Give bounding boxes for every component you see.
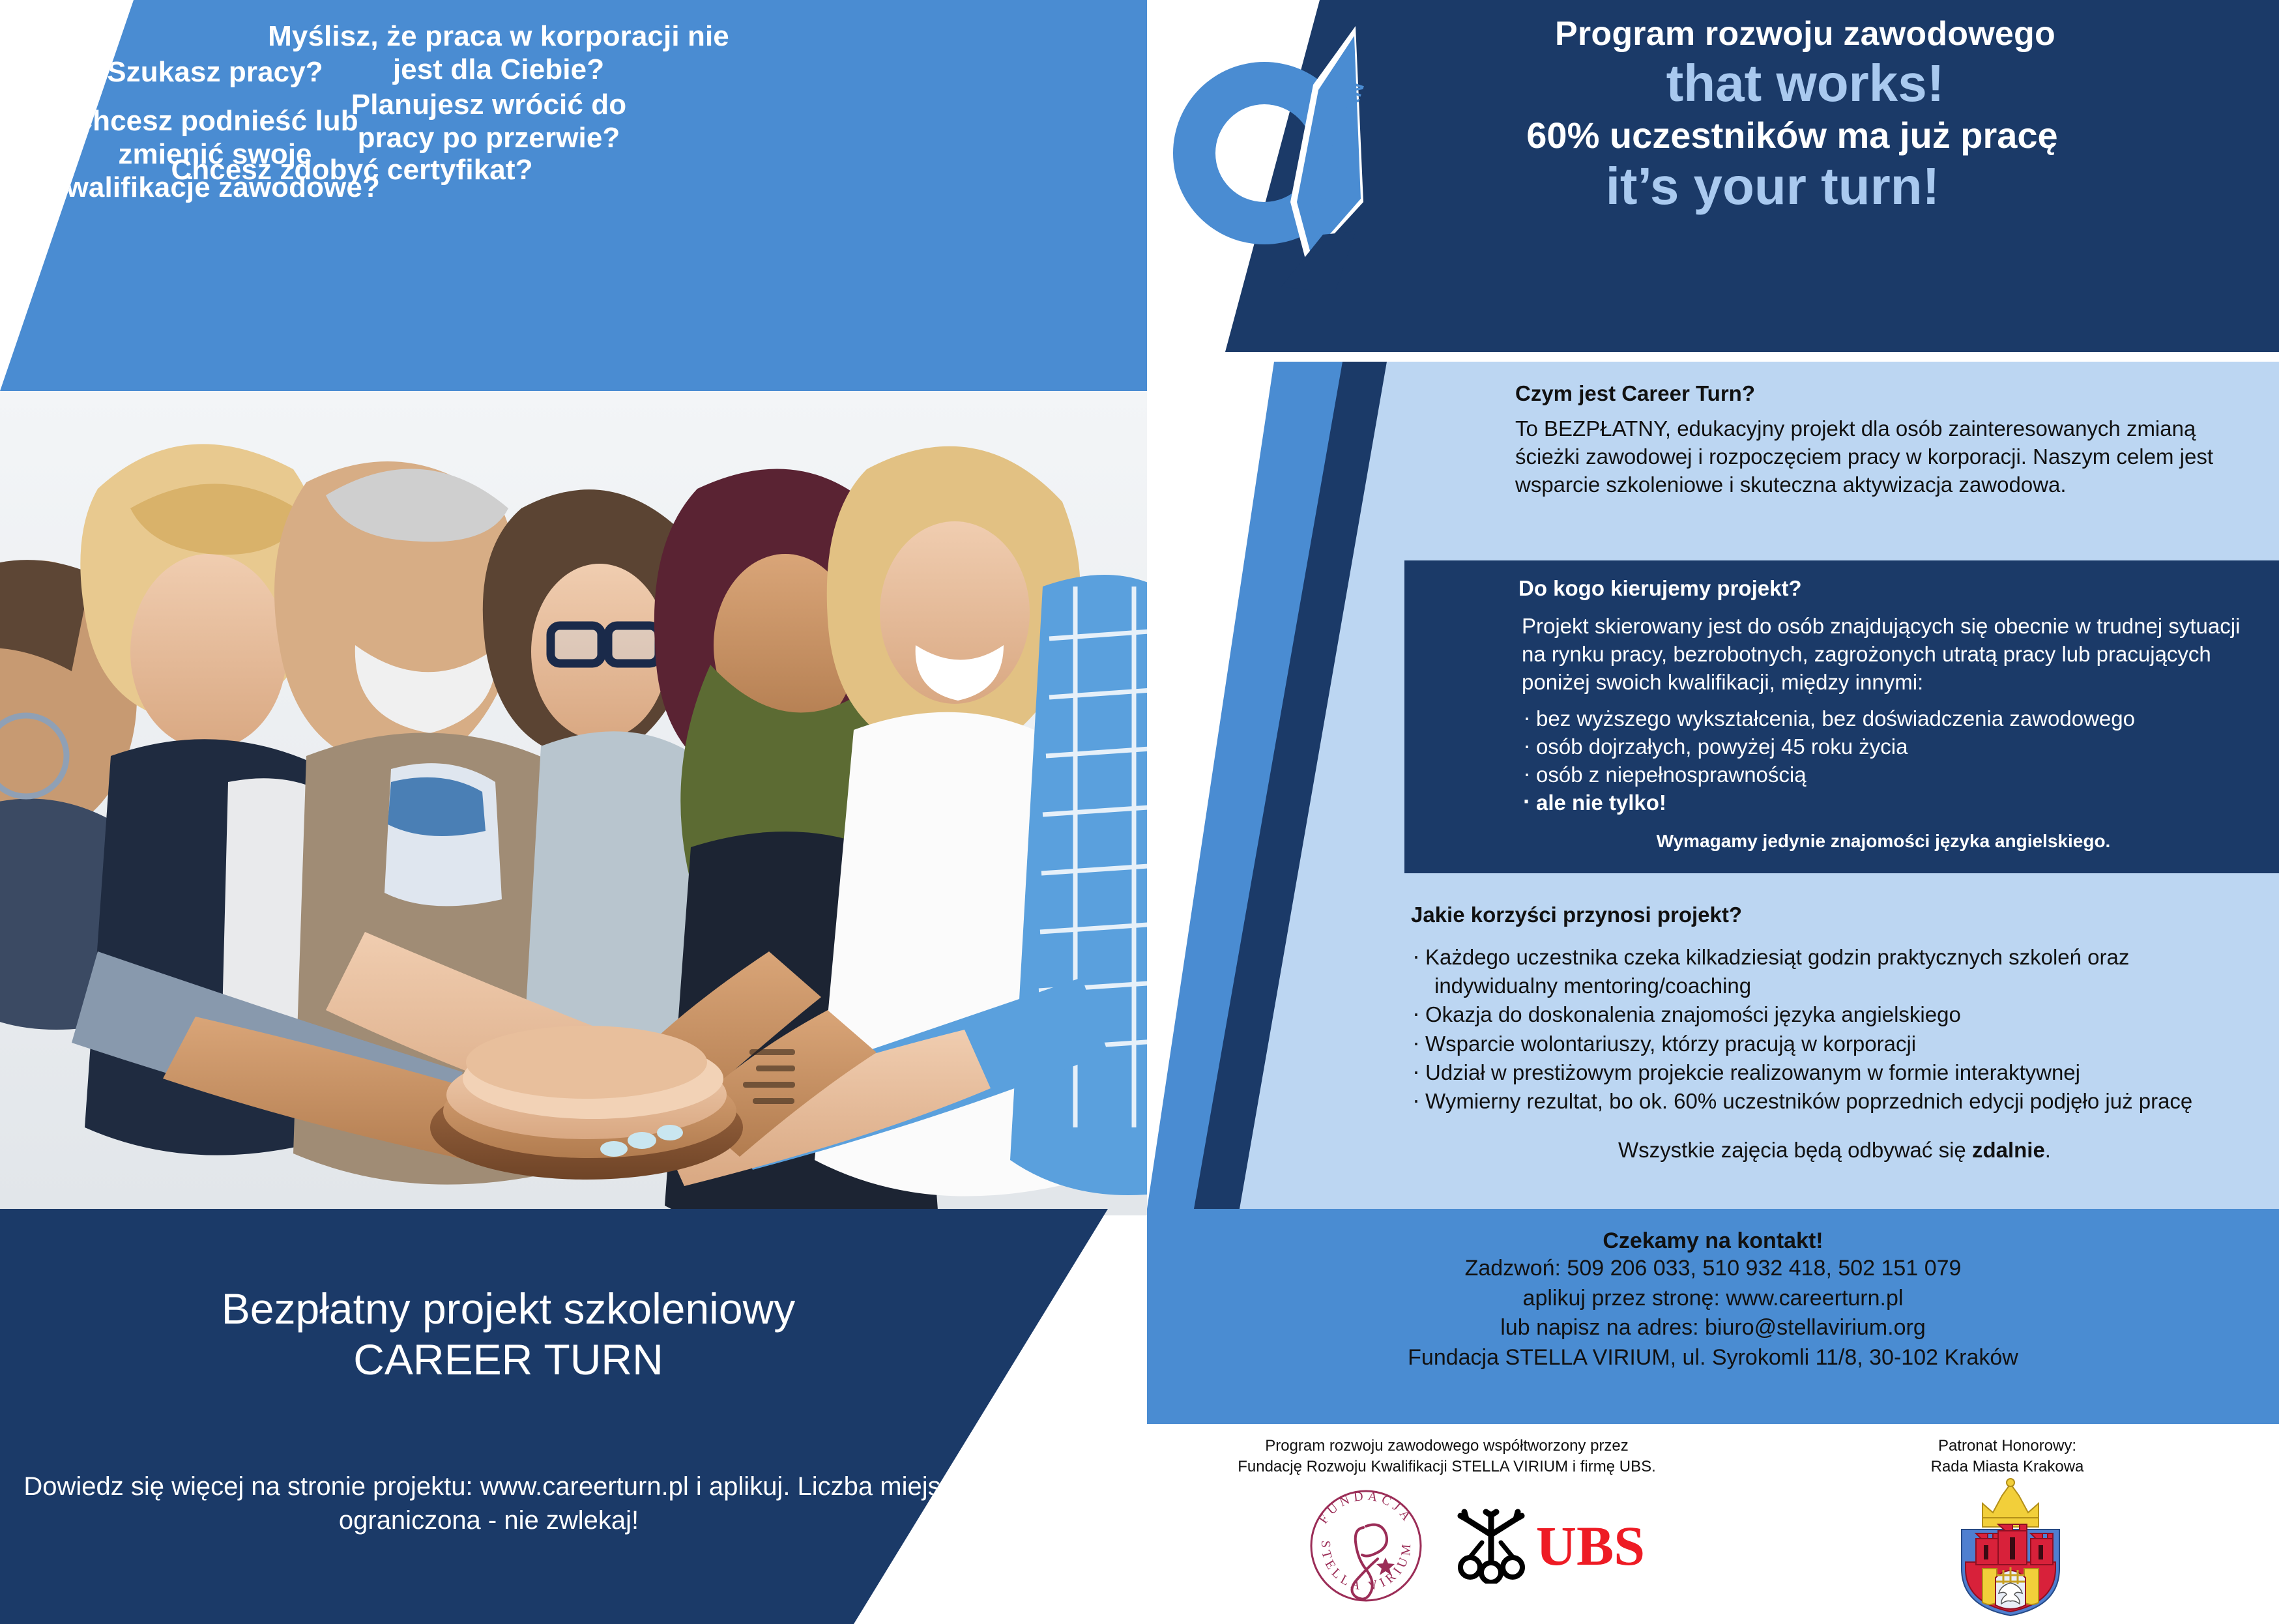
contact-phones[interactable]: Zadzwoń: 509 206 033, 510 932 418, 502 1… <box>1147 1254 2279 1284</box>
project-title-line1: Bezpłatny projekt szkoleniowy <box>0 1284 1017 1335</box>
patron-line-1: Patronat Honorowy: <box>1799 1436 2216 1457</box>
partner-logos: FUNDACJA STELLA VIRIUM <box>1245 1477 1701 1614</box>
target-list: bez wyższego wykształcenia, bez doświadc… <box>1522 705 2252 817</box>
target-item: osób z niepełnosprawnością <box>1522 761 2252 789</box>
project-subtitle: Dowiedz się więcej na stronie projektu: … <box>0 1470 978 1537</box>
project-title-line2: CAREER TURN <box>0 1335 1017 1385</box>
right-column: Program rozwoju zawodowego that works! 6… <box>1147 0 2279 1624</box>
benefits-note-bold: zdalnie <box>1972 1138 2045 1162</box>
patron-line-2: Rada Miasta Krakowa <box>1799 1457 2216 1477</box>
seal-top-text: FUNDACJA <box>1316 1488 1415 1526</box>
hero-line-3: 60% uczestników ma już pracę <box>1329 114 2255 156</box>
questions-band: Szukasz pracy? Myślisz, że praca w korpo… <box>0 0 1147 391</box>
poster: Szukasz pracy? Myślisz, że praca w korpo… <box>0 0 2279 1624</box>
benefit-main: Każdego uczestnika czeka kilkadziesiąt g… <box>1425 945 2129 969</box>
benefit-item: Udział w prestiżowym projekcie realizowa… <box>1411 1058 2258 1087</box>
benefits-heading: Jakie korzyści przynosi projekt? <box>1411 903 2258 927</box>
target-item: ale nie tylko! <box>1522 789 2252 817</box>
about-section: Czym jest Career Turn? To BEZPŁATNY, edu… <box>1515 381 2252 499</box>
krakow-coat-of-arms <box>1942 1477 2079 1617</box>
benefits-note-suffix: . <box>2045 1138 2051 1162</box>
target-intro: Projekt skierowany jest do osób znajdują… <box>1522 613 2245 697</box>
partners-text: Program rozwoju zawodowego współtworzony… <box>1186 1436 1707 1477</box>
question-4: Planujesz wrócić do pracy po przerwie? <box>332 88 645 154</box>
benefits-note: Wszystkie zajęcia będą odbywać się zdaln… <box>1411 1138 2258 1163</box>
question-2: Myślisz, że praca w korporacji nie jest … <box>261 20 736 86</box>
target-section: Do kogo kierujemy projekt? Projekt skier… <box>1404 560 2279 873</box>
team-hands-photo <box>0 391 1147 1215</box>
left-column: Szukasz pracy? Myślisz, że praca w korpo… <box>0 0 1147 1624</box>
hero-line-2: that works! <box>1343 53 2268 113</box>
benefits-note-prefix: Wszystkie zajęcia będą odbywać się <box>1618 1138 1972 1162</box>
benefit-item: Wsparcie wolontariuszy, którzy pracują w… <box>1411 1030 2258 1058</box>
partners-line-2: Fundację Rozwoju Kwalifikacji STELLA VIR… <box>1186 1457 1707 1477</box>
benefit-item: Każdego uczestnika czeka kilkadziesiąt g… <box>1411 943 2258 1000</box>
project-title: Bezpłatny projekt szkoleniowy CAREER TUR… <box>0 1284 1017 1385</box>
ubs-logo: UBS <box>1457 1509 1645 1584</box>
target-heading: Do kogo kierujemy projekt? <box>1518 576 1802 601</box>
careerturn-ring-arrow-logo: CAREERTURN <box>1160 7 1369 332</box>
target-panel: Do kogo kierujemy projekt? Projekt skier… <box>1404 560 2279 873</box>
hero-line-4: it’s your turn! <box>1310 156 2235 216</box>
ubs-wordmark: UBS <box>1536 1518 1645 1574</box>
about-body: To BEZPŁATNY, edukacyjny projekt dla osó… <box>1515 415 2252 499</box>
target-item: bez wyższego wykształcenia, bez doświadc… <box>1522 705 2252 733</box>
benefit-item: Okazja do doskonalenia znajomości języka… <box>1411 1000 2258 1029</box>
question-5: Chcesz zdobyć certyfikat? <box>150 153 554 186</box>
benefits-section: Jakie korzyści przynosi projekt? Każdego… <box>1411 903 2258 1163</box>
contact-website[interactable]: aplikuj przez stronę: www.careerturn.pl <box>1147 1284 2279 1314</box>
patron-text: Patronat Honorowy: Rada Miasta Krakowa <box>1799 1436 2216 1477</box>
seal-bottom-text: STELLA VIRIUM <box>1318 1540 1414 1593</box>
left-footer-block: Bezpłatny projekt szkoleniowy CAREER TUR… <box>0 1209 1147 1624</box>
target-note: Wymagamy jedynie znajomości języka angie… <box>1522 831 2245 852</box>
contact-heading: Czekamy na kontakt! <box>1147 1228 2279 1254</box>
footer-panel: Program rozwoju zawodowego współtworzony… <box>1147 1424 2279 1624</box>
benefit-item: Wymierny rezultat, bo ok. 60% uczestnikó… <box>1411 1087 2258 1116</box>
benefits-list: Każdego uczestnika czeka kilkadziesiąt g… <box>1411 943 2258 1116</box>
contact-address: Fundacja STELLA VIRIUM, ul. Syrokomli 11… <box>1147 1343 2279 1373</box>
stella-virium-seal-logo: FUNDACJA STELLA VIRIUM <box>1301 1481 1431 1611</box>
hero-line-1: Program rozwoju zawodowego <box>1343 14 2268 53</box>
contact-panel: Czekamy na kontakt! Zadzwoń: 509 206 033… <box>1147 1209 2279 1424</box>
partners-line-1: Program rozwoju zawodowego współtworzony… <box>1186 1436 1707 1457</box>
about-heading: Czym jest Career Turn? <box>1515 381 2252 406</box>
target-item: osób dojrzałych, powyżej 45 roku życia <box>1522 733 2252 761</box>
benefit-continuation: indywidualny mentoring/coaching <box>1425 972 2258 1000</box>
contact-email[interactable]: lub napisz na adres: biuro@stellavirium.… <box>1147 1313 2279 1343</box>
ubs-three-keys-icon <box>1457 1509 1526 1584</box>
